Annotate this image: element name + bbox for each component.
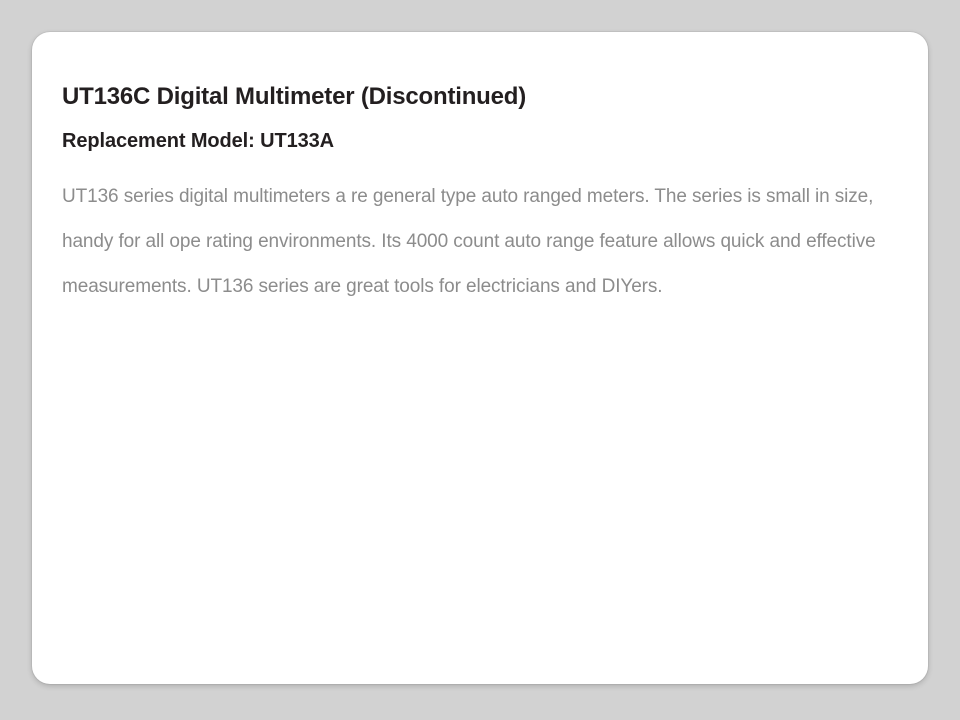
product-description: UT136 series digital multimeters a re ge…: [62, 174, 898, 309]
page-title: UT136C Digital Multimeter (Discontinued): [62, 84, 898, 110]
replacement-model-heading: Replacement Model: UT133A: [62, 130, 898, 152]
card-body: UT136C Digital Multimeter (Discontinued)…: [32, 32, 928, 309]
product-info-card: UT136C Digital Multimeter (Discontinued)…: [32, 32, 928, 684]
page-root: UT136C Digital Multimeter (Discontinued)…: [0, 0, 960, 720]
